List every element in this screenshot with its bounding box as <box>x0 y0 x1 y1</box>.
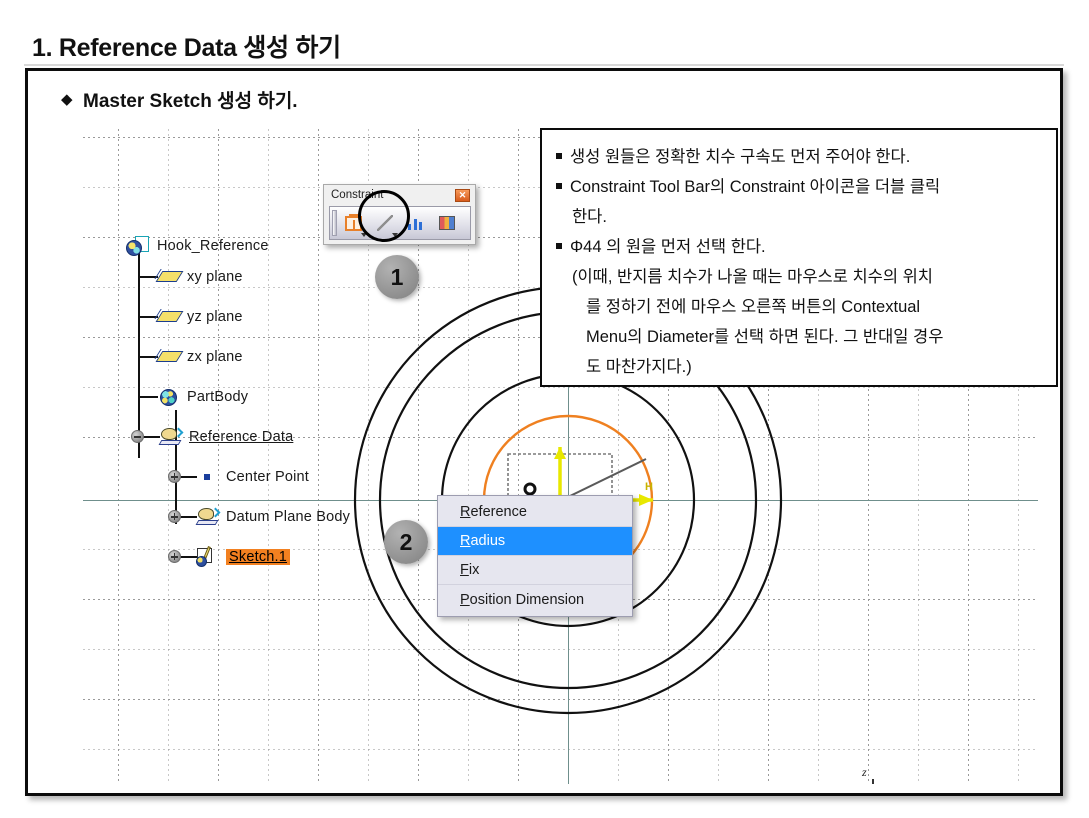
auto-constraint-icon[interactable] <box>432 209 461 238</box>
bullet-diamond-icon: ◆ <box>61 90 73 108</box>
tree-item-label: xy plane <box>187 269 243 285</box>
partbody-icon <box>156 387 182 407</box>
menu-mnemonic: R <box>460 533 470 549</box>
note-text: 생성 원들은 정확한 치수 구속도 먼저 주어야 한다. <box>570 148 910 166</box>
datum-plane-icon <box>195 507 221 527</box>
tree-item-reference-data[interactable]: Reference Data <box>158 425 293 449</box>
grid-line-h <box>83 749 1038 750</box>
grid-line-v <box>118 129 119 784</box>
menu-label: ix <box>469 562 479 578</box>
tree-item-xy-plane[interactable]: xy plane <box>156 265 243 289</box>
grid-line-v <box>318 129 319 784</box>
page-title: 1. Reference Data 생성 하기 <box>32 28 341 64</box>
tree-item-datum-plane-body[interactable]: Datum Plane Body <box>195 505 350 529</box>
tree-item-label: Hook_Reference <box>157 238 269 254</box>
note-line: 생성 원들은 정확한 치수 구속도 먼저 주어야 한다. <box>556 142 1042 172</box>
context-menu-item-position-dimension[interactable]: Position Dimension <box>438 585 632 614</box>
tree-item-zx-plane[interactable]: zx plane <box>156 345 243 369</box>
close-icon[interactable]: ✕ <box>455 189 470 202</box>
menu-label: adius <box>470 533 505 549</box>
tree-expand-handle[interactable] <box>168 470 181 483</box>
note-text: Constraint Tool Bar의 Constraint 아이콘을 더블 … <box>570 178 940 196</box>
point-icon <box>195 467 221 487</box>
menu-label: eference <box>470 504 526 520</box>
note-line: 도 마찬가지다.) <box>556 352 1042 382</box>
note-text: Menu의 Diameter를 선택 하면 된다. 그 반대일 경우 <box>586 328 943 346</box>
note-line: Menu의 Diameter를 선택 하면 된다. 그 반대일 경우 <box>556 322 1042 352</box>
tree-item-hook-reference[interactable]: Hook_Reference <box>126 234 269 258</box>
tree-item-label-selected: Sketch.1 <box>226 549 290 565</box>
note-text: 한다. <box>572 208 607 226</box>
grid-line-v <box>518 129 519 784</box>
note-text: Φ44 의 원을 먼저 선택 한다. <box>570 238 766 256</box>
menu-mnemonic: P <box>460 592 470 608</box>
h-axis-label: H <box>645 481 653 493</box>
note-text: (이때, 반지름 치수가 나올 때는 마우스로 치수의 위치 <box>572 268 933 286</box>
grid-line-v <box>268 129 269 784</box>
note-line: 한다. <box>556 202 1042 232</box>
grid-line-h <box>83 699 1038 700</box>
menu-mnemonic: R <box>460 504 470 520</box>
tree-collapse-handle[interactable] <box>131 430 144 443</box>
note-line: Φ44 의 원을 먼저 선택 한다. <box>556 232 1042 262</box>
context-menu-item-radius[interactable]: Radius <box>438 527 632 556</box>
grid-line-v <box>168 129 169 784</box>
context-menu-item-reference[interactable]: Reference <box>438 498 632 527</box>
tree-item-partbody[interactable]: PartBody <box>156 385 248 409</box>
note-bullet-icon <box>556 183 562 189</box>
tree-item-label: yz plane <box>187 309 243 325</box>
note-text: 를 정하기 전에 마우스 오른쪽 버튼의 Contextual <box>586 298 920 316</box>
sketch-icon <box>195 547 221 567</box>
constraint-icon-highlight-circle <box>358 190 410 242</box>
section-heading: Master Sketch 생성 하기. <box>83 86 298 113</box>
reference-data-icon <box>158 427 184 447</box>
tree-item-sketch-1[interactable]: Sketch.1 <box>195 545 290 569</box>
menu-mnemonic: F <box>460 562 469 578</box>
tripod-z-label: z <box>862 765 867 780</box>
tree-branch <box>138 396 158 398</box>
tree-item-label: zx plane <box>187 349 243 365</box>
context-menu-item-fix[interactable]: Fix <box>438 556 632 585</box>
grid-line-v <box>218 129 219 784</box>
note-text: 도 마찬가지다.) <box>586 358 692 376</box>
note-line: 를 정하기 전에 마우스 오른쪽 버튼의 Contextual <box>556 292 1042 322</box>
tree-item-label: PartBody <box>187 389 248 405</box>
step-badge-2: 2 <box>384 520 428 564</box>
tree-item-label: Datum Plane Body <box>226 509 350 525</box>
tree-item-center-point[interactable]: Center Point <box>195 465 309 489</box>
menu-label: osition Dimension <box>470 592 584 608</box>
tree-item-yz-plane[interactable]: yz plane <box>156 305 243 329</box>
context-menu[interactable]: Reference Radius Fix Position Dimension <box>437 495 633 617</box>
grid-line-h <box>83 649 1038 650</box>
tree-expand-handle[interactable] <box>168 550 181 563</box>
plane-icon <box>156 347 182 367</box>
tree-item-label: Reference Data <box>189 429 293 445</box>
slide-page: 1. Reference Data 생성 하기 ◆ Master Sketch … <box>0 0 1089 818</box>
plane-icon <box>156 267 182 287</box>
plane-icon <box>156 307 182 327</box>
note-line: (이때, 반지름 치수가 나올 때는 마우스로 치수의 위치 <box>556 262 1042 292</box>
tree-expand-handle[interactable] <box>168 510 181 523</box>
step-badge-1: 1 <box>375 255 419 299</box>
hook-reference-icon <box>126 236 152 256</box>
note-line: Constraint Tool Bar의 Constraint 아이콘을 더블 … <box>556 172 1042 202</box>
instruction-note-box: 생성 원들은 정확한 치수 구속도 먼저 주어야 한다. Constraint … <box>540 128 1058 387</box>
note-bullet-icon <box>556 153 562 159</box>
toolbar-drag-handle[interactable] <box>332 210 337 236</box>
note-bullet-icon <box>556 243 562 249</box>
title-divider <box>24 64 1064 66</box>
tree-item-label: Center Point <box>226 469 309 485</box>
